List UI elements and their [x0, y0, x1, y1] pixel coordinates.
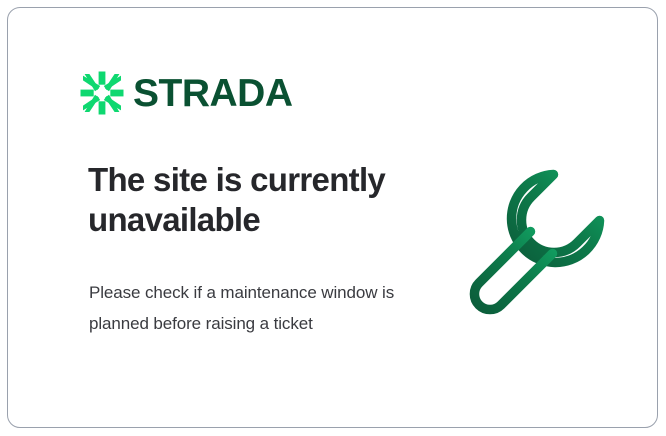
page-title: The site is currently unavailable	[88, 160, 418, 241]
brand-wordmark: STRADA	[133, 74, 293, 113]
brand-logo: STRADA	[80, 71, 293, 115]
page-description: Please check if a maintenance window is …	[89, 278, 399, 340]
status-card: STRADA The site is currently unavailable…	[7, 7, 658, 428]
error-page: STRADA The site is currently unavailable…	[0, 0, 666, 436]
strada-asterisk-icon	[80, 71, 124, 115]
wrench-icon	[460, 160, 624, 324]
